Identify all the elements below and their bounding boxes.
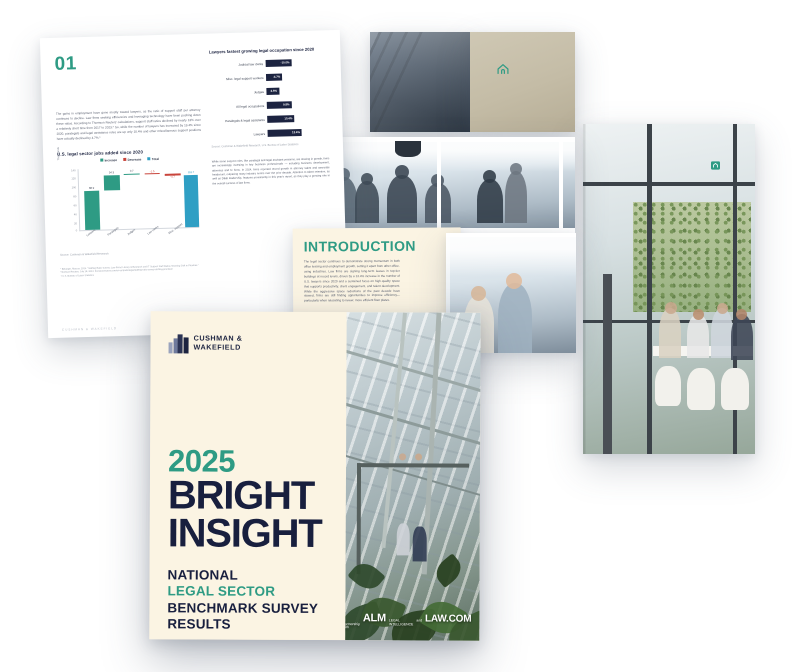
glass-atrium-cover-photo: in partnership with ALM LEGAL INTELLIGEN… [346,312,481,641]
mockup-canvas: 01 The gains in employment have gone mos… [0,0,800,672]
waterfall-category-labels: Lawyers Paralegals Judges Law clerks Mis… [79,228,200,251]
home-icon [496,62,510,74]
cushman-wakefield-logo: CUSHMAN & WAKEFIELD [169,333,331,354]
cover-year: 2025 [168,445,330,477]
conference-room-photo [583,124,755,454]
cover-subtitle-line3: BENCHMARK SURVEY [167,600,329,617]
waterfall-bar-law-clerks [144,173,160,174]
waterfall-plot-area: 88.9 34.3 0.7 -1.5 -4.7 [78,165,200,230]
waterfall-bar-total [184,175,200,227]
hbar-row: Misc. legal support workers -4.7% [209,72,327,82]
alm-logo: ALM [363,613,386,625]
introduction-body-text: The legal sector continues to demonstrat… [304,259,400,304]
cushman-wakefield-wordmark: CUSHMAN & WAKEFIELD [194,335,243,353]
partnership-conjunction: and [416,620,422,624]
waterfall-chart: U.S. legal sector jobs added since 2020 … [57,147,204,256]
introduction-heading: INTRODUCTION [304,237,450,254]
hbar-chart-title: Lawyers fastest growing legal occupation… [209,46,327,54]
chapter-number: 01 [54,50,199,76]
hbar-row: Judges 2.6% [210,86,328,96]
legend-item-total: Total [147,156,159,160]
alm-sublabel: LEGAL INTELLIGENCE [389,620,414,627]
waterfall-y-axis: 140 120 100 80 60 40 20 0 [68,169,78,231]
chapter-body-text: The gains in employment have gone mostly… [56,108,201,142]
hbar-row: Judicial law clerks -10.0% [209,58,327,68]
partnership-credit: in partnership with ALM LEGAL INTELLIGEN… [346,612,472,630]
industrial-ceiling-photo [370,32,470,132]
building-mark-icon [169,333,189,353]
page-footer-brand: CUSHMAN & WAKEFIELD [62,326,117,332]
legend-item-decrease: Decrease [123,157,141,162]
partnership-prefix: in partnership with [346,619,360,630]
spread-left-column: 01 The gains in employment have gone mos… [54,50,205,279]
person-silhouette [659,308,681,358]
wall-home-icon-photo [470,32,575,132]
hbar-row: All legal occupations 9.8% [210,100,328,110]
cover-subtitle-line1: NATIONAL [168,567,330,584]
hbar-row: Lawyers 13.4% [211,128,329,138]
report-cover: CUSHMAN & WAKEFIELD 2025 BRIGHT INSIGHT … [149,311,480,640]
person-silhouette [413,527,427,562]
middle-column-body-text: While some support roles, like paralegal… [212,157,330,186]
person-silhouette [397,523,410,555]
waterfall-bar-paralegals [104,175,120,190]
home-icon [710,157,721,166]
cover-subtitle-line4: RESULTS [167,617,329,634]
lawcom-logo: LAW.COM [425,614,471,625]
legend-item-increase: Increase [100,158,117,162]
hbar-row: Paralegals & legal assistants 10.4% [211,114,329,124]
cover-title-line1: BRIGHT [168,476,330,515]
waterfall-bar-judges [124,174,140,175]
hbar-chart-source: Source: Cushman & Wakefield Research, U.… [211,142,329,148]
hbar-chart: Judicial law clerks -10.0% Misc. legal s… [209,58,329,138]
cover-subtitle: NATIONAL LEGAL SECTOR BENCHMARK SURVEY R… [167,567,329,634]
cover-subtitle-line2: LEGAL SECTOR [167,584,329,601]
cover-text-panel: CUSHMAN & WAKEFIELD 2025 BRIGHT INSIGHT … [149,311,348,640]
cover-title-line2: INSIGHT [168,515,330,554]
waterfall-bar-lawyers [84,190,101,229]
